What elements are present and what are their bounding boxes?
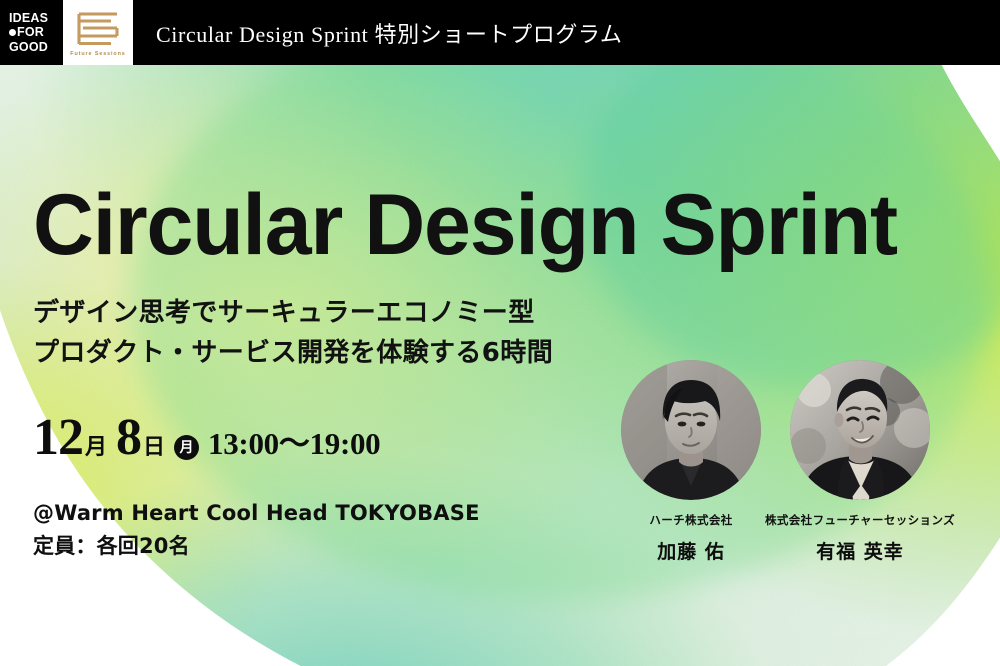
logo-line-ideas: IDEAS	[9, 11, 48, 26]
date-month-number: 12	[33, 412, 83, 464]
avatar	[621, 360, 761, 500]
date-day-number: 8	[116, 412, 141, 464]
weekday-badge: 月	[174, 435, 199, 460]
event-time-range: 13:00〜19:00	[208, 418, 380, 463]
event-title: Circular Design Sprint	[33, 182, 897, 268]
date-day-unit: 日	[143, 429, 165, 461]
future-sessions-logo[interactable]: Future Sessions	[63, 0, 133, 65]
venue-block: @Warm Heart Cool Head TOKYOBASE 定員：各回20名	[33, 497, 480, 563]
main-content: Circular Design Sprint デザイン思考でサーキュラーエコノミ…	[0, 65, 1000, 666]
speaker-name: 有福 英幸	[816, 537, 904, 564]
event-date-row: 12 月 8 日 月 13:00〜19:00	[33, 412, 380, 464]
subtitle-line-1: デザイン思考でサーキュラーエコノミー型	[33, 293, 553, 333]
logo-line-for: FOR	[9, 25, 44, 40]
subtitle-line-2: プロダクト・サービス開発を体験する6時間	[33, 333, 553, 373]
portrait-photo-2	[790, 360, 930, 500]
header-title: Circular Design Sprint 特別ショートプログラム	[133, 0, 1000, 65]
portrait-photo-1	[621, 360, 761, 500]
poster-canvas: IDEAS FOR GOOD Future Sessions Circu	[0, 0, 1000, 666]
capacity-text: 定員：各回20名	[33, 530, 480, 563]
logo-dot-icon	[9, 29, 16, 36]
speakers-section: ハーチ株式会社 加藤 佑	[620, 360, 980, 564]
future-sessions-caption: Future Sessions	[70, 51, 125, 57]
speaker-org: ハーチ株式会社	[649, 512, 732, 528]
event-subtitle: デザイン思考でサーキュラーエコノミー型 プロダクト・サービス開発を体験する6時間	[33, 293, 553, 373]
speaker-card: ハーチ株式会社 加藤 佑	[620, 360, 762, 564]
future-sessions-mark-icon	[75, 10, 121, 48]
ideas-for-good-logo[interactable]: IDEAS FOR GOOD	[0, 0, 63, 65]
logo-for-text: FOR	[17, 25, 44, 40]
header-bar: IDEAS FOR GOOD Future Sessions Circu	[0, 0, 1000, 65]
speaker-org: 株式会社フューチャーセッションズ	[765, 512, 955, 528]
logo-line-good: GOOD	[9, 40, 48, 55]
avatar	[790, 360, 930, 500]
speaker-card: 株式会社フューチャーセッションズ 有福 英幸	[789, 360, 931, 564]
venue-name: @Warm Heart Cool Head TOKYOBASE	[33, 497, 480, 530]
speaker-name: 加藤 佑	[657, 537, 725, 564]
date-month-unit: 月	[85, 429, 107, 461]
